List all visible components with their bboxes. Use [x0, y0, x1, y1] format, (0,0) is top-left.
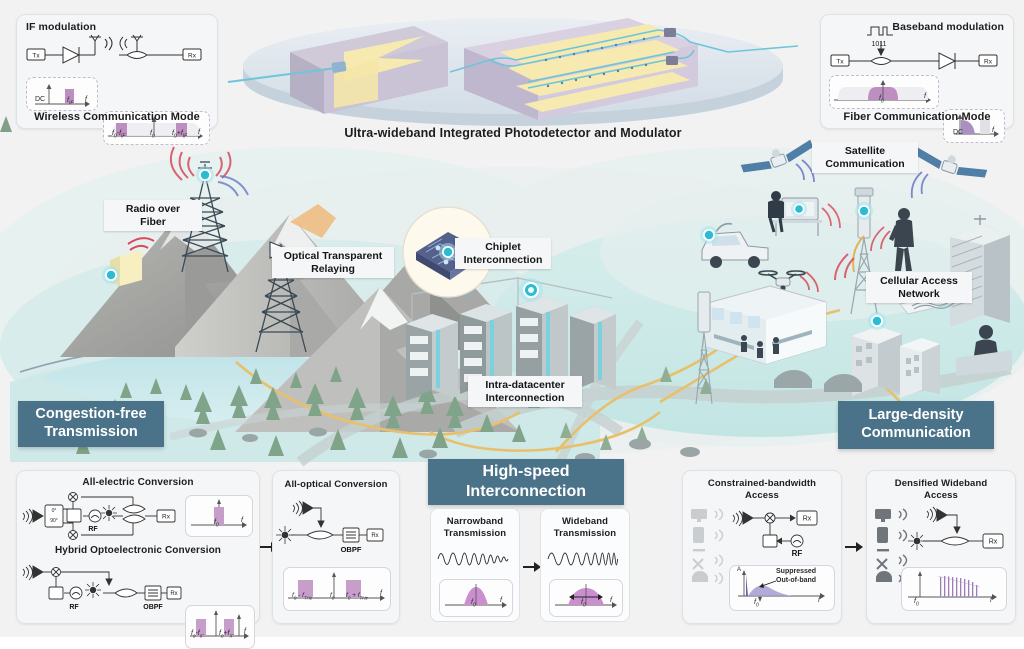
suppressed-annotation-line1: Suppressed — [776, 568, 816, 575]
label-satellite-communication: Satellite Communication — [812, 142, 918, 173]
f0-minus-fif-label: f0-fIF — [112, 130, 125, 139]
amplitude-axis-label: A — [737, 567, 741, 573]
tx-label: Tx — [32, 53, 40, 60]
freq-axis-label-6: f — [244, 628, 246, 635]
f0-plus-fif-label: f0+fIF — [172, 130, 187, 139]
freq-axis-label: f — [85, 96, 87, 103]
freq-axis-label-9: f — [610, 597, 612, 604]
spectrum-baseband-optical: f0 f — [829, 75, 939, 109]
rx-label-5: Rx — [371, 533, 378, 539]
bit-sequence-label: 1011 — [871, 41, 886, 48]
pedestrian — [884, 205, 924, 275]
f0-minus-fif-label-2: f0-fIF — [191, 630, 204, 638]
label-radio-over-fiber: Radio over Fiber — [104, 200, 202, 231]
rx-label-7: Rx — [989, 539, 998, 546]
freq-axis-label-7: f — [380, 590, 382, 597]
spectrum-densified-wb: f0 f — [901, 567, 1007, 611]
arrow-narrow-to-wide — [523, 560, 541, 574]
chip-illustration — [228, 8, 798, 140]
constrained-bw-title: Constrained-bandwidth Access — [683, 478, 841, 503]
rx-label-3: Rx — [162, 514, 171, 521]
f0-label-6: f0 — [581, 599, 586, 608]
banner-large-density: Large-density Communication — [838, 401, 994, 449]
f0-label-8: f0 — [914, 598, 919, 607]
label-chiplet-interconnection: Chiplet Interconnection — [455, 238, 551, 269]
freq-axis-label-10: f — [818, 597, 820, 604]
spectrum-all-optical: f0 - fTHz f0 f0 + fTHz f — [283, 567, 391, 611]
hybrid-0-label: 0° — [52, 508, 57, 514]
freq-axis-label-2: f — [198, 129, 200, 136]
spectrum-if-dc: DC fIF f — [26, 77, 98, 111]
narrowband-waveform — [436, 545, 514, 573]
freq-axis-label-4: f — [992, 127, 994, 134]
baseband-schematic: 1011 Tx Rx — [827, 21, 1009, 73]
freq-axis-label-5: f — [241, 517, 243, 524]
chip-caption: Ultra-wideband Integrated Photodetector … — [228, 126, 798, 140]
banner-high-speed: High-speed Interconnection — [428, 459, 624, 505]
label-optical-transparent-relaying: Optical Transparent Relaying — [272, 247, 394, 278]
arrow-constrained-to-densified — [845, 540, 863, 554]
freq-axis-label-8: f — [500, 597, 502, 604]
rf-label-2: RF — [69, 604, 79, 611]
spectrum-constrained-bw: A Suppressed Out-of-band f0 f — [729, 565, 835, 611]
constrained-bw-schematic: Rx RF — [731, 507, 837, 559]
densified-wb-title: Densified Wideband Access — [867, 478, 1015, 503]
obpf-label-2: OBPF — [341, 545, 362, 554]
card-narrowband-transmission: Narrowband Transmission f0 f — [430, 508, 520, 622]
card-constrained-bandwidth-access: Constrained-bandwidth Access — [682, 470, 842, 624]
rof-node — [96, 240, 166, 300]
narrowband-title: Narrowband Transmission — [431, 516, 519, 540]
dc-label: DC — [35, 96, 45, 103]
f0-minus-fthz-label: f0 - fTHz — [292, 592, 312, 600]
figure-root: Radio over Fiber Optical Transparent Rel… — [0, 0, 1024, 637]
rf-label: RF — [88, 526, 98, 533]
vehicles-right — [770, 358, 890, 398]
f0-label-3: f0 — [214, 519, 219, 528]
urban-small-tower — [688, 288, 722, 408]
spectrum-all-electric: f0 f — [185, 495, 253, 537]
card-conversion-methods: All-electric Conversion — [16, 470, 260, 624]
all-electric-schematic: 0° 90° Rx RF — [21, 491, 181, 543]
device-icon-column-left — [689, 507, 731, 585]
satellite-2 — [906, 142, 992, 202]
f0-plus-fif-label-2: f0+fIF — [219, 630, 234, 638]
glow-node-datacenter — [518, 277, 544, 303]
label-intra-datacenter-interconnection: Intra-datacenter Interconnection — [468, 376, 582, 407]
f0-label: f0 — [150, 130, 155, 139]
rf-label-3: RF — [792, 549, 803, 558]
if-modulation-title: IF modulation — [26, 21, 96, 33]
densified-wb-schematic: Rx — [911, 509, 1013, 561]
spectrum-wideband: f0 f — [549, 579, 623, 617]
f0-label-4: f0 — [330, 592, 334, 600]
obpf-label: OBPF — [143, 604, 163, 611]
if-modulation-schematic: Tx Rx — [23, 35, 213, 73]
f-if-label: fIF — [67, 97, 73, 106]
spectrum-hybrid-opto: f0-fIF f0+fIF f — [185, 605, 255, 649]
all-optical-schematic: Rx OBPF — [277, 495, 395, 557]
wideband-title: Wideband Transmission — [541, 516, 629, 540]
freq-axis-label-3: f — [924, 93, 926, 100]
card-all-optical-conversion: All-optical Conversion Rx OBPF — [272, 470, 400, 624]
rx-label-4: Rx — [170, 591, 177, 597]
all-optical-conversion-title: All-optical Conversion — [273, 479, 399, 490]
rx-label-2: Rx — [984, 59, 993, 66]
freq-axis-label-11: f — [990, 597, 992, 604]
wideband-waveform — [546, 545, 624, 573]
f0-label-5: f0 — [471, 599, 476, 608]
hybrid-opto-schematic: RF OBPF Rx — [21, 559, 181, 615]
f0-label-2: f0 — [879, 95, 884, 104]
wireless-mode-footer: Wireless Communication Mode — [17, 111, 217, 123]
dc-label-2: DC — [953, 129, 963, 136]
suppressed-annotation-line2: Out-of-band — [776, 577, 816, 584]
card-densified-wideband-access: Densified Wideband Access — [866, 470, 1016, 624]
card-wideband-transmission: Wideband Transmission f0 f — [540, 508, 630, 622]
f0-label-7: f0 — [754, 599, 759, 608]
label-cellular-access-network: Cellular Access Network — [866, 272, 972, 303]
spectrum-narrowband: f0 f — [439, 579, 513, 617]
tx-label-2: Tx — [836, 59, 844, 66]
panel-baseband-modulation: Baseband modulation 1011 Tx Rx — [820, 14, 1014, 129]
hybrid-90-label: 90° — [50, 518, 58, 524]
rx-label: Rx — [188, 53, 197, 60]
f0-plus-fthz-label: f0 + fTHz — [346, 592, 368, 600]
hybrid-optoelectronic-title: Hybrid Optoelectronic Conversion — [17, 545, 259, 556]
all-electric-conversion-title: All-electric Conversion — [17, 477, 259, 488]
panel-if-modulation: IF modulation Tx Rx — [16, 14, 218, 129]
rx-label-6: Rx — [803, 516, 812, 523]
fiber-mode-footer: Fiber Communication Mode — [821, 111, 1013, 123]
banner-congestion-free: Congestion-free Transmission — [18, 401, 164, 447]
